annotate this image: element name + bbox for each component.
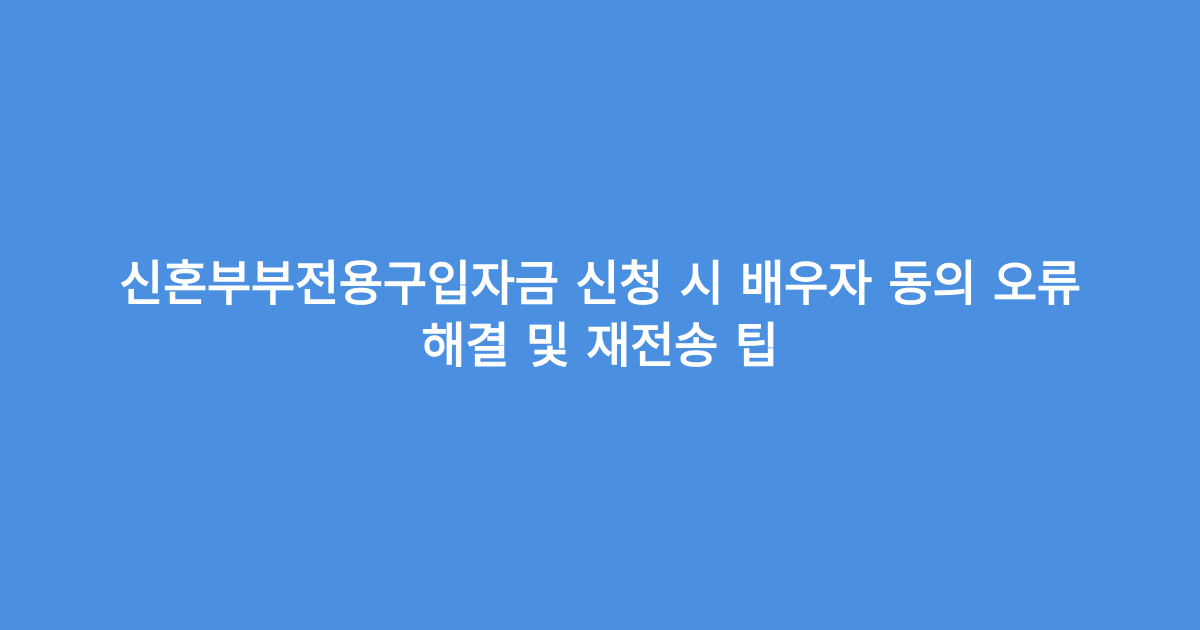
title-block: 신혼부부전용구입자금 신청 시 배우자 동의 오류 해결 및 재전송 팁 (70, 253, 1130, 377)
banner-card: 신혼부부전용구입자금 신청 시 배우자 동의 오류 해결 및 재전송 팁 (0, 0, 1200, 630)
page-title-line-2: 해결 및 재전송 팁 (90, 315, 1110, 377)
page-title: 신혼부부전용구입자금 신청 시 배우자 동의 오류 해결 및 재전송 팁 (90, 253, 1110, 377)
page-title-line-1: 신혼부부전용구입자금 신청 시 배우자 동의 오류 (90, 253, 1110, 315)
